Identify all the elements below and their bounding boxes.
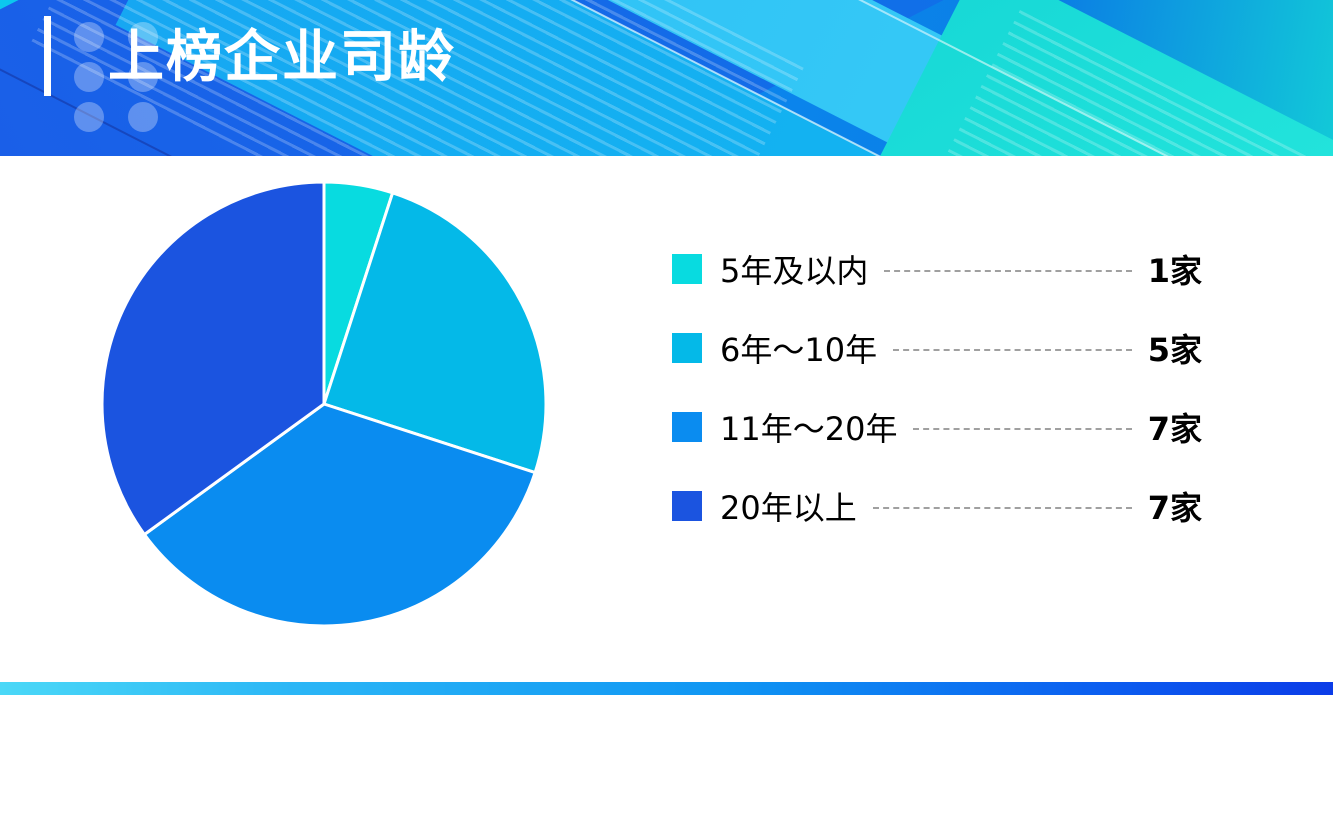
header-stripes-right xyxy=(875,10,1333,156)
slide-footer: 中国文投 China Cultural Investment 界面智库 JIEM… xyxy=(0,695,1333,833)
chart-area: 5年及以内 1家 6年～10年 5家 11年～20年 7家 20年以上 xyxy=(0,156,1333,682)
legend-swatch-icon xyxy=(672,333,702,363)
legend-leader-line xyxy=(893,349,1132,351)
legend-item-0[interactable]: 5年及以内 1家 xyxy=(672,242,1202,296)
legend-value: 5家 xyxy=(1148,325,1202,371)
legend-swatch-icon xyxy=(672,491,702,521)
legend-label: 20年以上 xyxy=(720,483,857,529)
legend-value: 7家 xyxy=(1148,483,1202,529)
page-title: 上榜企业司龄 xyxy=(108,26,456,90)
legend-value: 7家 xyxy=(1148,404,1202,450)
header-band-light xyxy=(406,0,1333,156)
title-accent-bar xyxy=(44,16,51,96)
pattern-dot xyxy=(128,102,158,132)
slide-header: 上榜企业司龄 xyxy=(0,0,1333,156)
pattern-dot xyxy=(74,102,104,132)
legend-value: 1家 xyxy=(1148,246,1202,292)
legend-leader-line xyxy=(913,428,1131,430)
header-band-teal xyxy=(830,0,1333,156)
legend-label: 6年～10年 xyxy=(720,325,877,371)
chart-legend: 5年及以内 1家 6年～10年 5家 11年～20年 7家 20年以上 xyxy=(672,242,1202,533)
legend-leader-line xyxy=(884,270,1131,272)
pie-slice-group xyxy=(102,182,546,626)
pie-chart xyxy=(90,170,558,638)
legend-leader-line xyxy=(873,507,1132,509)
legend-label: 11年～20年 xyxy=(720,404,897,450)
legend-item-2[interactable]: 11年～20年 7家 xyxy=(672,400,1202,454)
slide: 上榜企业司龄 5年及以内 1家 6年～10年 5家 1 xyxy=(0,0,1333,833)
legend-swatch-icon xyxy=(672,412,702,442)
legend-item-3[interactable]: 20年以上 7家 xyxy=(672,479,1202,533)
header-hairline-two xyxy=(469,0,1333,156)
pattern-dot xyxy=(74,22,104,52)
legend-item-1[interactable]: 6年～10年 5家 xyxy=(672,321,1202,375)
legend-label: 5年及以内 xyxy=(720,246,868,292)
pattern-dot xyxy=(74,62,104,92)
pie-chart-svg xyxy=(90,170,558,638)
legend-swatch-icon xyxy=(672,254,702,284)
footer-gradient-bar xyxy=(0,682,1333,695)
